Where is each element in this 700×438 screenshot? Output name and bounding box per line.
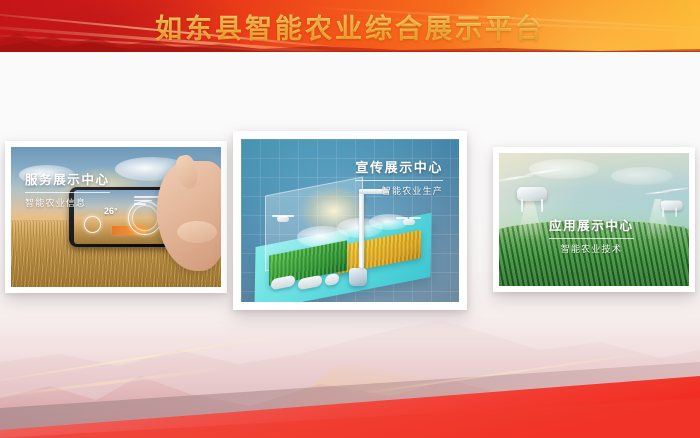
cloud bbox=[611, 167, 673, 185]
title-rule bbox=[355, 180, 443, 181]
hud-ring-icon bbox=[132, 205, 158, 231]
drone-icon bbox=[399, 216, 419, 228]
card-service-text: 服务展示中心 智能农业信息 bbox=[25, 169, 110, 209]
page-title: 如东县智能农业综合展示平台 bbox=[0, 0, 700, 52]
spray-drone-icon bbox=[499, 165, 571, 215]
card-title: 服务展示中心 bbox=[25, 169, 110, 188]
spray-drone-icon bbox=[645, 185, 687, 214]
card-application-display-center[interactable]: 应用展示中心 智能农业技术 bbox=[493, 147, 695, 292]
card-service-display-center[interactable]: 26° 服务展示中心 智能农业信息 bbox=[5, 141, 227, 293]
card-subtitle: 智能农业生产 bbox=[355, 184, 443, 197]
app-root: 如东县智能农业综合展示平台 26° bbox=[0, 0, 700, 438]
finger bbox=[177, 221, 217, 243]
header-banner: 如东县智能农业综合展示平台 bbox=[0, 0, 700, 52]
card-subtitle: 智能农业信息 bbox=[25, 196, 110, 209]
card-title: 宣传展示中心 bbox=[355, 157, 443, 176]
card-promotion-image: 宣传展示中心 智能农业生产 bbox=[241, 139, 459, 302]
title-rule bbox=[549, 238, 634, 239]
card-application-image: 应用展示中心 智能农业技术 bbox=[499, 153, 689, 286]
card-application-text: 应用展示中心 智能农业技术 bbox=[549, 215, 634, 255]
light-pole bbox=[359, 190, 364, 268]
hud-ring-icon bbox=[84, 216, 101, 233]
drone-icon bbox=[275, 214, 291, 224]
card-service-image: 26° 服务展示中心 智能农业信息 bbox=[11, 147, 221, 287]
card-subtitle: 智能农业技术 bbox=[549, 242, 634, 255]
title-rule bbox=[25, 192, 110, 193]
card-title: 应用展示中心 bbox=[549, 215, 634, 234]
card-promotion-text: 宣传展示中心 智能农业生产 bbox=[355, 157, 443, 197]
card-promotion-display-center[interactable]: 宣传展示中心 智能农业生产 bbox=[233, 131, 467, 310]
water-tank bbox=[349, 268, 367, 286]
